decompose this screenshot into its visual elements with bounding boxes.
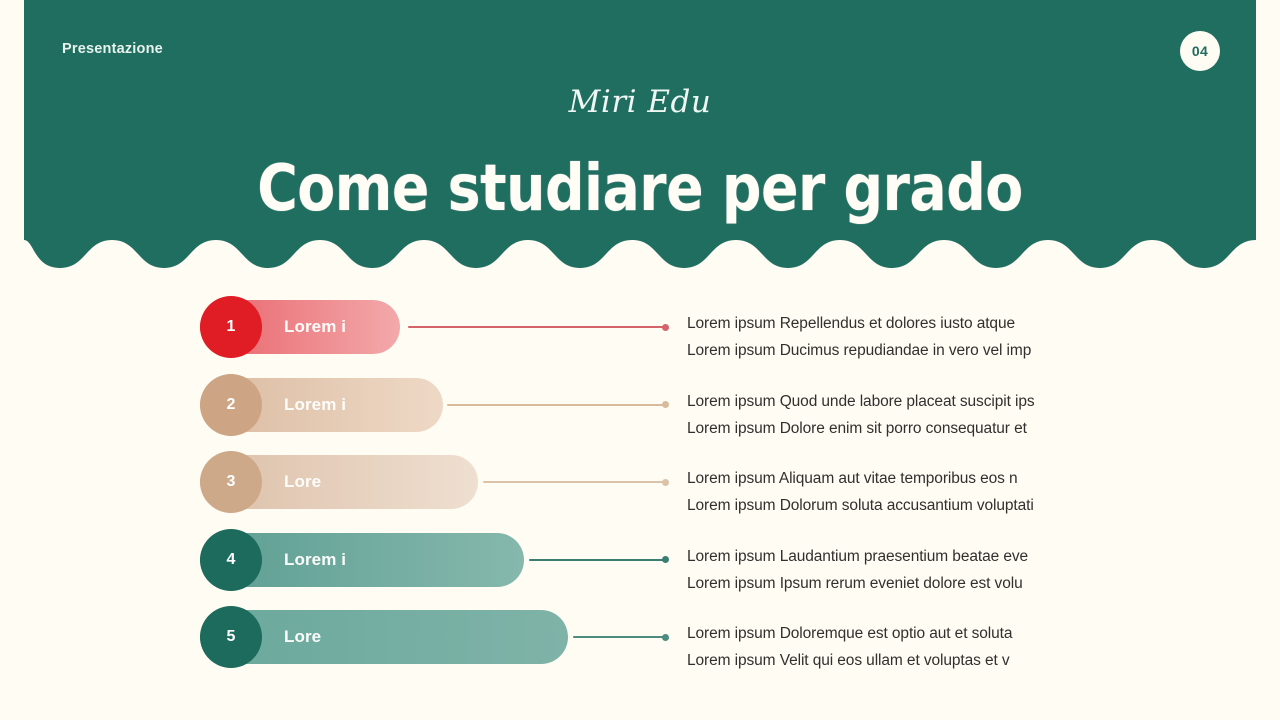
step-number-text: 4 — [227, 551, 236, 569]
step-connector — [573, 636, 666, 638]
steps-list: Lorem i1Lorem ipsum Repellendus et dolor… — [0, 300, 1280, 688]
kicker-label: Presentazione — [62, 41, 163, 57]
step-connector — [529, 559, 666, 561]
step-number-badge: 5 — [200, 606, 262, 668]
connector-line — [408, 326, 666, 328]
brand-wordmark: Miri Edu — [24, 84, 1256, 120]
step-row: Lore3Lorem ipsum Aliquam aut vitae tempo… — [0, 455, 1280, 533]
step-description-line: Lorem ipsum Ipsum rerum eveniet dolore e… — [687, 570, 1107, 597]
step-row: Lorem i4Lorem ipsum Laudantium praesenti… — [0, 533, 1280, 611]
header-wave-background — [24, 0, 1256, 268]
step-description-line: Lorem ipsum Ducimus repudiandae in vero … — [687, 337, 1107, 364]
step-number-text: 3 — [227, 473, 236, 491]
step-number-text: 2 — [227, 396, 236, 414]
step-description-line: Lorem ipsum Velit qui eos ullam et volup… — [687, 647, 1107, 674]
step-connector — [408, 326, 666, 328]
step-description: Lorem ipsum Quod unde labore placeat sus… — [687, 388, 1107, 442]
step-connector — [447, 404, 666, 406]
connector-dot-icon — [662, 401, 669, 408]
step-connector — [483, 481, 666, 483]
connector-line — [483, 481, 666, 483]
connector-line — [529, 559, 666, 561]
step-pill-label: Lore — [284, 610, 321, 664]
step-row: Lorem i1Lorem ipsum Repellendus et dolor… — [0, 300, 1280, 378]
step-description: Lorem ipsum Aliquam aut vitae temporibus… — [687, 465, 1107, 519]
step-pill-label: Lore — [284, 455, 321, 509]
step-row: Lorem i2Lorem ipsum Quod unde labore pla… — [0, 378, 1280, 456]
step-description-line: Lorem ipsum Doloremque est optio aut et … — [687, 620, 1107, 647]
step-description-line: Lorem ipsum Dolorum soluta accusantium v… — [687, 492, 1107, 519]
step-number-text: 1 — [227, 318, 236, 336]
connector-line — [447, 404, 666, 406]
step-description: Lorem ipsum Doloremque est optio aut et … — [687, 620, 1107, 674]
slide-header: Presentazione 04 Miri Edu Come studiare … — [24, 0, 1256, 268]
step-description-line: Lorem ipsum Repellendus et dolores iusto… — [687, 310, 1107, 337]
step-pill-label: Lorem i — [284, 533, 346, 587]
step-description-line: Lorem ipsum Aliquam aut vitae temporibus… — [687, 465, 1107, 492]
step-number-badge: 4 — [200, 529, 262, 591]
page-number-badge: 04 — [1180, 31, 1220, 71]
connector-dot-icon — [662, 324, 669, 331]
step-pill-label: Lorem i — [284, 378, 346, 432]
step-number-badge: 3 — [200, 451, 262, 513]
slide: Presentazione 04 Miri Edu Come studiare … — [0, 0, 1280, 720]
step-row: Lore5Lorem ipsum Doloremque est optio au… — [0, 610, 1280, 688]
step-description-line: Lorem ipsum Laudantium praesentium beata… — [687, 543, 1107, 570]
step-description: Lorem ipsum Laudantium praesentium beata… — [687, 543, 1107, 597]
connector-dot-icon — [662, 556, 669, 563]
connector-dot-icon — [662, 479, 669, 486]
connector-line — [573, 636, 666, 638]
step-description-line: Lorem ipsum Quod unde labore placeat sus… — [687, 388, 1107, 415]
step-description-line: Lorem ipsum Dolore enim sit porro conseq… — [687, 415, 1107, 442]
page-number-text: 04 — [1192, 43, 1208, 59]
step-number-text: 5 — [227, 628, 236, 646]
step-number-badge: 2 — [200, 374, 262, 436]
step-number-badge: 1 — [200, 296, 262, 358]
step-description: Lorem ipsum Repellendus et dolores iusto… — [687, 310, 1107, 364]
step-pill-label: Lorem i — [284, 300, 346, 354]
connector-dot-icon — [662, 634, 669, 641]
page-title: Come studiare per grado — [49, 152, 1232, 226]
